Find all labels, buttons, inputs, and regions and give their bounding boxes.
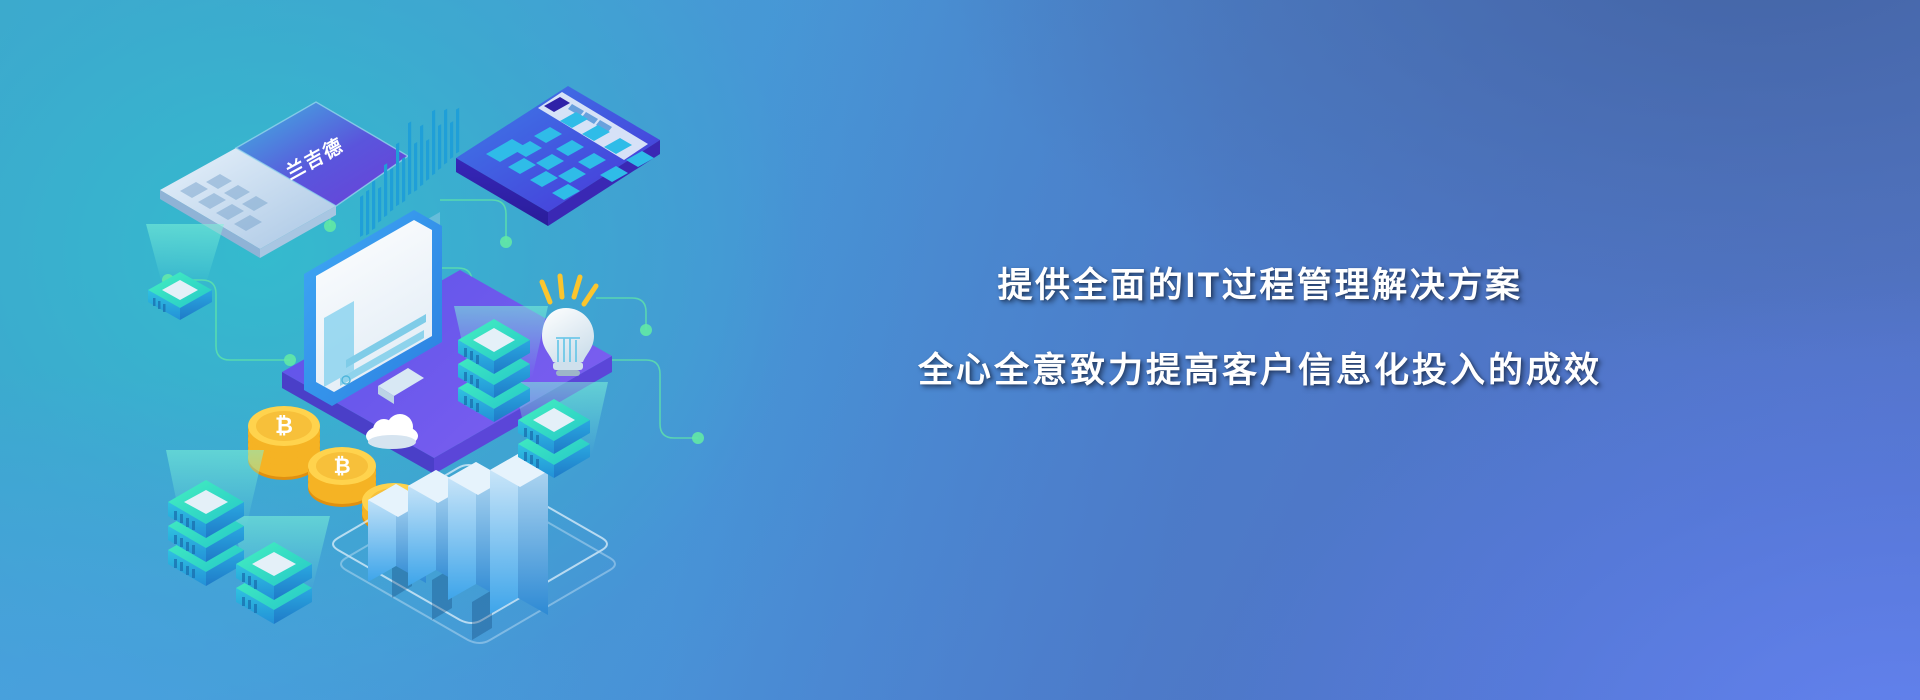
calculator [456,86,660,226]
server-stack-4 [458,319,530,422]
bitcoin-symbol: ₿ [275,414,293,439]
hero-banner: 兰吉德 [0,0,1920,700]
headline-line-1: 提供全面的IT过程管理解决方案 [880,268,1640,305]
hero-illustration: 兰吉德 [140,30,700,660]
bar-4 [490,454,548,615]
svg-text:₿: ₿ [333,454,350,478]
server-stack-2 [168,480,244,586]
headline-line-2: 全心全意致力提高客户信息化投入的成效 [880,353,1640,390]
lightbulb-rays [542,276,596,304]
headline-block: 提供全面的IT过程管理解决方案 全心全意致力提高客户信息化投入的成效 [880,268,1640,390]
